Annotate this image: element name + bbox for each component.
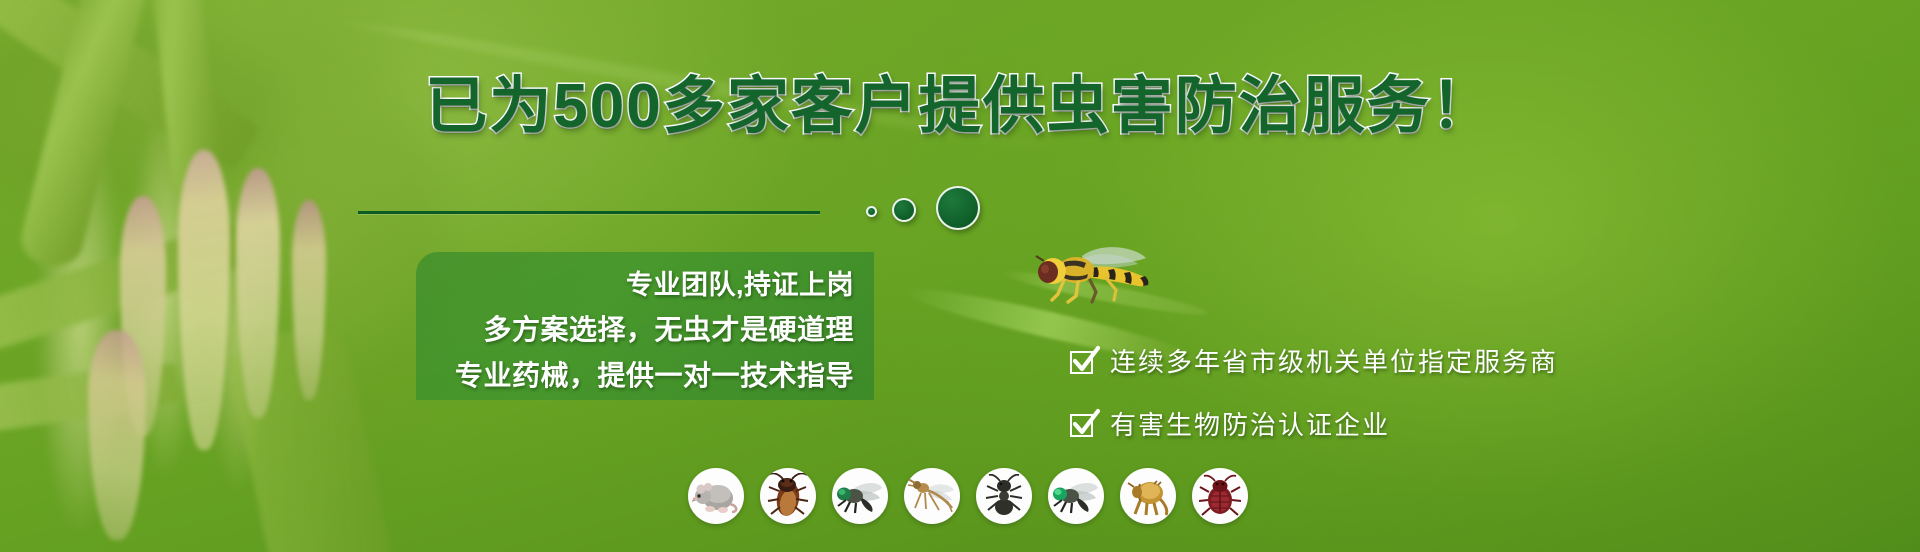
list-item: 有害生物防治认证企业 xyxy=(1070,405,1630,442)
page-title-text: 已为500多家客户提供虫害防治服务！ xyxy=(425,72,1494,141)
page-title: 已为500多家客户提供虫害防治服务！ xyxy=(0,76,1920,138)
pest-icon-row xyxy=(688,468,1248,524)
dot-small xyxy=(866,206,877,217)
checkbox-checked-icon xyxy=(1070,348,1096,374)
seed-head-decor xyxy=(178,150,230,450)
list-item-label: 连续多年省市级机关单位指定服务商 xyxy=(1110,342,1558,379)
cockroach-icon[interactable] xyxy=(760,468,816,524)
horizontal-rule xyxy=(358,211,820,214)
dot-medium xyxy=(892,198,916,222)
blowfly-icon[interactable] xyxy=(1048,468,1104,524)
list-item: 连续多年省市级机关单位指定服务商 xyxy=(1070,342,1630,379)
pest-control-banner: 已为500多家客户提供虫害防治服务！ 专业团队,持证上岗 多方案选择，无虫才是硬… xyxy=(0,0,1920,552)
bedbug-icon[interactable] xyxy=(1192,468,1248,524)
dot-decoration-group xyxy=(866,186,1006,230)
slogan-line-1: 专业团队,持证上岗 xyxy=(626,263,854,302)
mosquito-icon[interactable] xyxy=(904,468,960,524)
slogan-line-2: 多方案选择，无虫才是硬道理 xyxy=(483,308,854,348)
certification-checklist: 连续多年省市级机关单位指定服务商 有害生物防治认证企业 xyxy=(1070,342,1630,442)
list-item-label: 有害生物防治认证企业 xyxy=(1110,405,1390,442)
housefly-icon[interactable] xyxy=(832,468,888,524)
hoverfly-photo xyxy=(1030,244,1162,306)
slogan-line-3: 专业药械，提供一对一技术指导 xyxy=(455,354,854,394)
ant-icon[interactable] xyxy=(976,468,1032,524)
flea-icon[interactable] xyxy=(1120,468,1176,524)
checkbox-checked-icon xyxy=(1070,411,1096,437)
dot-large xyxy=(936,186,980,230)
seed-head-decor xyxy=(88,330,146,540)
slogan-panel: 专业团队,持证上岗 多方案选择，无虫才是硬道理 专业药械，提供一对一技术指导 xyxy=(416,252,874,400)
rodent-icon[interactable] xyxy=(688,468,744,524)
